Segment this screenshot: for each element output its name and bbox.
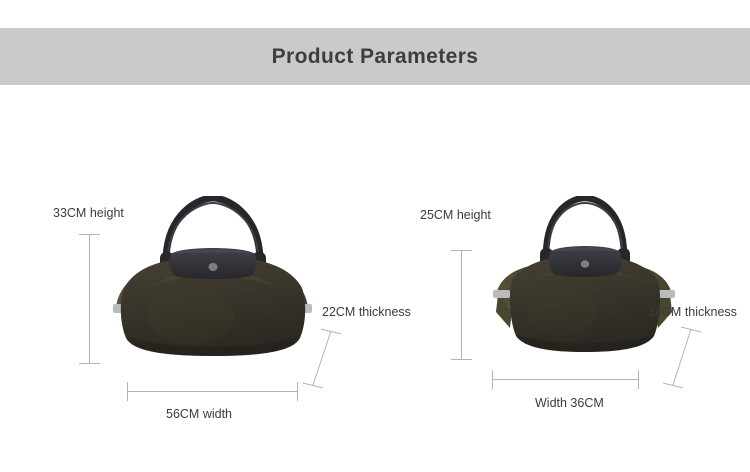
brand-logo-icon	[209, 263, 218, 271]
page-title: Product Parameters	[272, 45, 479, 69]
large-bag-height-label: 33CM height	[53, 206, 124, 220]
small-shoulder-bag-image	[490, 196, 680, 364]
large-bag-thickness-measure	[300, 325, 346, 398]
large-bag-thickness-label: 22CM thickness	[322, 305, 411, 319]
product-parameters-infographic: Product Parameters	[0, 0, 750, 472]
small-bag-height-label: 25CM height	[420, 208, 491, 222]
small-bag-thickness-measure	[660, 323, 706, 398]
small-bag-width-label: Width 36CM	[535, 396, 604, 410]
brand-logo-icon	[581, 260, 589, 268]
large-travel-bag-image	[108, 196, 318, 366]
small-bag-thickness-label: 14CM thickness	[648, 305, 737, 319]
large-bag-width-label: 56CM width	[166, 407, 232, 421]
header-banner: Product Parameters	[0, 28, 750, 85]
